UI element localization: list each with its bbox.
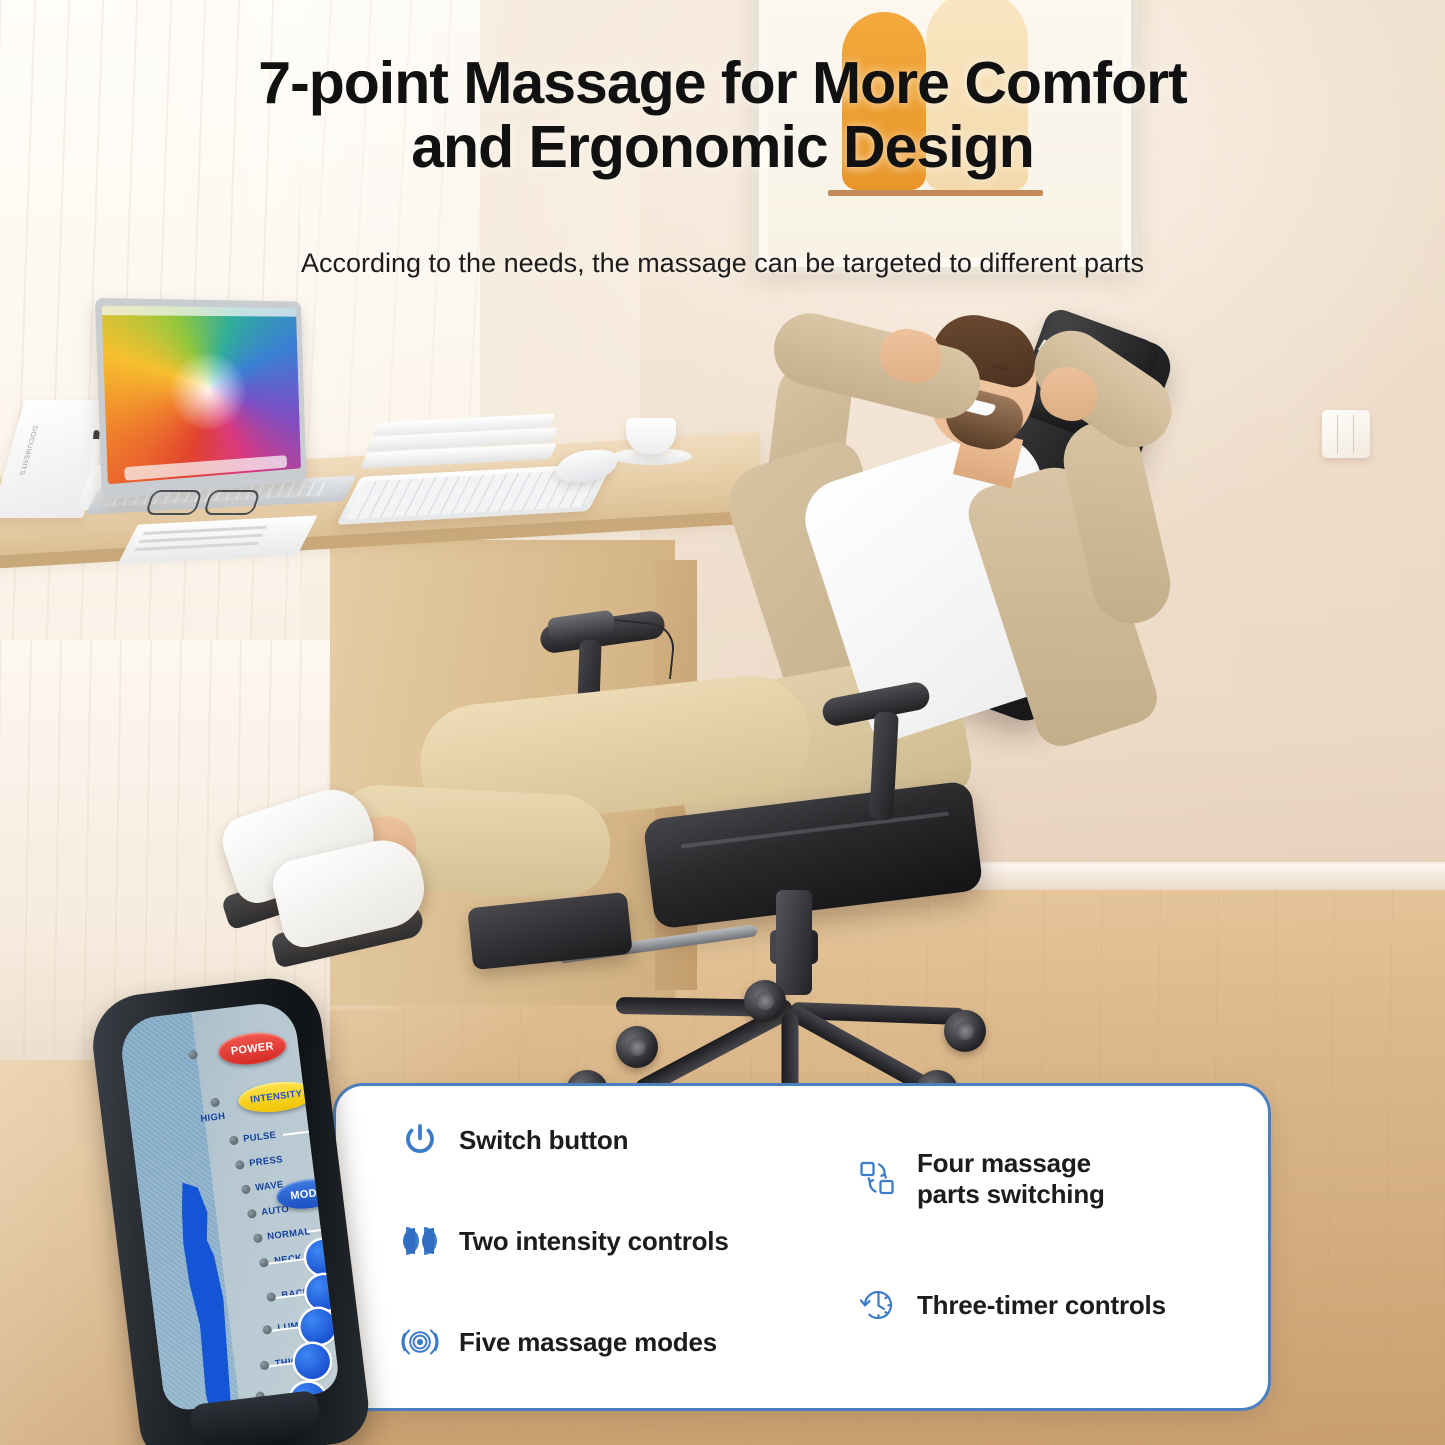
laptop-dock bbox=[124, 455, 286, 481]
laptop-menubar bbox=[102, 306, 297, 317]
feature-label-line2: parts switching bbox=[917, 1179, 1105, 1209]
chair-caster bbox=[616, 1026, 658, 1068]
feature-label: Switch button bbox=[459, 1125, 628, 1156]
eyeglasses bbox=[146, 486, 276, 512]
light-switch[interactable] bbox=[1322, 410, 1370, 458]
led-mode-auto bbox=[247, 1209, 257, 1219]
remote-thigh-button[interactable] bbox=[293, 1342, 332, 1381]
laptop-wallpaper bbox=[102, 306, 301, 485]
feature-parts-switching[interactable]: Four massage parts switching bbox=[856, 1148, 1166, 1209]
led-thigh bbox=[259, 1360, 269, 1370]
led-back bbox=[266, 1292, 276, 1302]
led-mode-press bbox=[235, 1160, 245, 1170]
laptop-screen[interactable] bbox=[95, 298, 307, 500]
feature-label: Two intensity controls bbox=[459, 1226, 729, 1257]
led-mode-pulse bbox=[229, 1135, 239, 1145]
led-lumbar bbox=[262, 1325, 272, 1335]
feature-label: Four massage parts switching bbox=[917, 1148, 1105, 1209]
title-line-2: and Ergonomic Design bbox=[0, 116, 1445, 180]
remote-power-button[interactable]: POWER bbox=[217, 1029, 288, 1068]
led-mode-wave bbox=[241, 1184, 251, 1194]
page-title: 7-point Massage for More Comfort and Erg… bbox=[0, 52, 1445, 179]
page-subtitle: According to the needs, the massage can … bbox=[0, 248, 1445, 279]
remote-mode-normal: NORMAL bbox=[267, 1226, 312, 1242]
remote-label-high: HIGH bbox=[200, 1111, 226, 1125]
feature-panel: Switch button Two intensity controls bbox=[333, 1083, 1271, 1411]
feature-label: Three-timer controls bbox=[917, 1290, 1166, 1321]
led-neck bbox=[259, 1258, 269, 1268]
feature-intensity-controls[interactable]: Two intensity controls bbox=[398, 1219, 729, 1263]
feature-column-right: Four massage parts switching Three-timer… bbox=[856, 1148, 1166, 1327]
intensity-icon bbox=[398, 1219, 442, 1263]
feature-timer-controls[interactable]: Three-timer controls bbox=[856, 1283, 1166, 1327]
feature-switch-button[interactable]: Switch button bbox=[398, 1118, 729, 1162]
led-mode-normal bbox=[253, 1233, 263, 1243]
remote-mode-press: PRESS bbox=[249, 1154, 284, 1169]
title-line-1: 7-point Massage for More Comfort bbox=[0, 52, 1445, 116]
switch-parts-icon bbox=[856, 1157, 900, 1201]
feature-label: Five massage modes bbox=[459, 1327, 717, 1358]
remote-mode-pulse: PULSE bbox=[243, 1130, 277, 1145]
chair-gas-cylinder bbox=[776, 890, 812, 995]
feature-label-line1: Four massage bbox=[917, 1148, 1091, 1178]
chair-caster bbox=[944, 1010, 986, 1052]
power-icon bbox=[398, 1118, 442, 1162]
feature-massage-modes[interactable]: Five massage modes bbox=[398, 1320, 729, 1364]
led-intensity-high bbox=[210, 1097, 220, 1107]
product-marketing-image: DOCUMENTS DOWINXLIFE bbox=[0, 0, 1445, 1445]
feature-column-left: Switch button Two intensity controls bbox=[398, 1118, 729, 1364]
art-shelf-line bbox=[828, 190, 1043, 196]
timer-clock-icon bbox=[856, 1283, 900, 1327]
chair-caster bbox=[744, 980, 786, 1022]
vibration-waves-icon bbox=[398, 1320, 442, 1364]
